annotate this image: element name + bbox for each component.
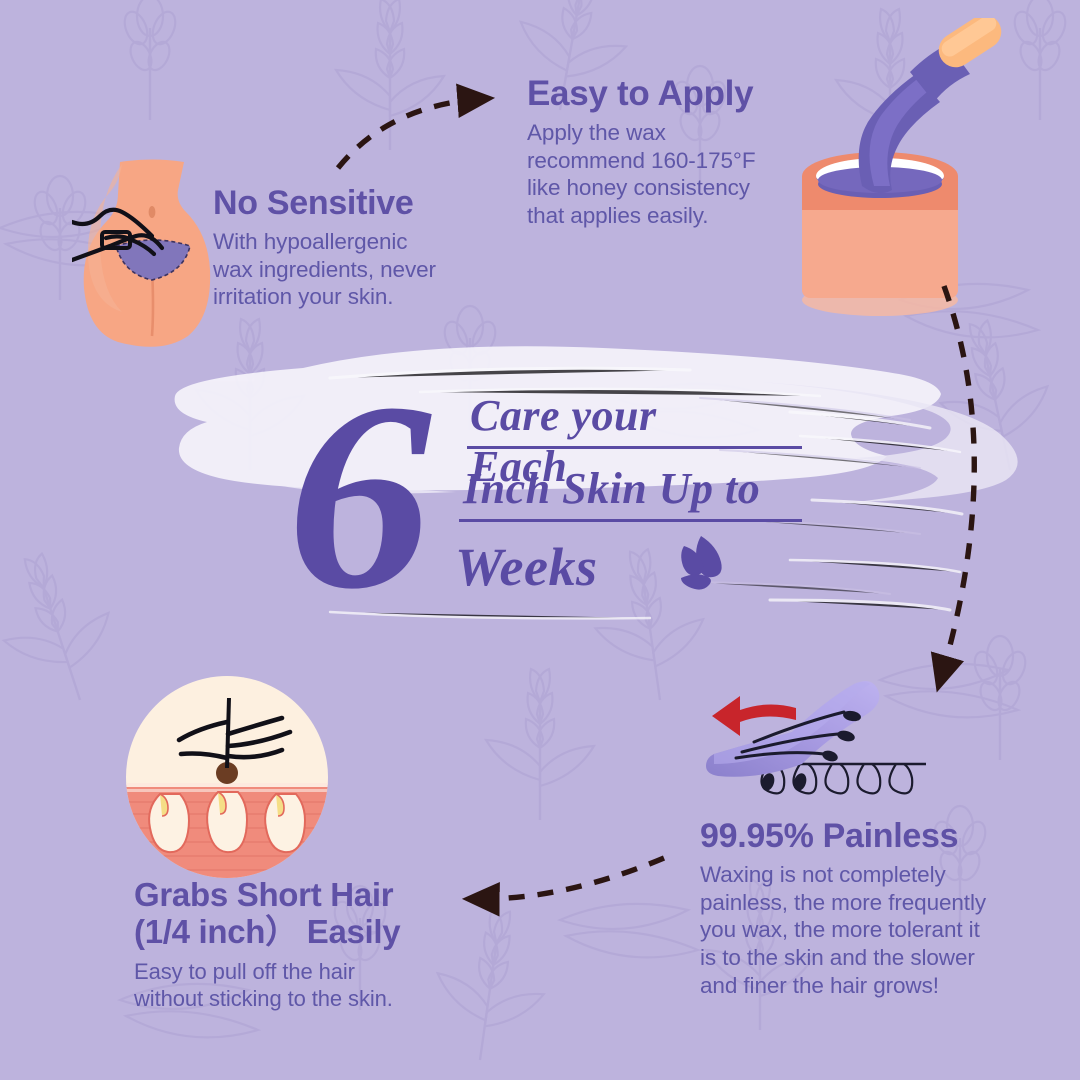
headline-underline-1 <box>467 446 802 449</box>
headline-line-3: Weeks <box>455 536 597 598</box>
feature-title: 99.95% Painless <box>700 818 1020 854</box>
torso-bikini-wax-illustration <box>72 158 232 348</box>
feature-title: Easy to Apply <box>527 75 802 112</box>
feature-body: Waxing is not completely painless, the m… <box>700 861 1020 999</box>
feature-body: With hypoallergenic wax ingredients, nev… <box>213 228 493 311</box>
headline-group: 6 Care your Each Inch Skin Up to Weeks <box>295 368 765 618</box>
feature-no-sensitive: No Sensitive With hypoallergenic wax ing… <box>213 185 493 311</box>
infographic-canvas: 6 Care your Each Inch Skin Up to Weeks N… <box>0 0 1080 1080</box>
wax-pot-with-stick-illustration <box>770 18 1030 338</box>
feature-grabs-short-hair: Grabs Short Hair (1/4 inch） Easily Easy … <box>134 877 464 1012</box>
feature-title: Grabs Short Hair (1/4 inch） Easily <box>134 877 464 951</box>
feature-body: Easy to pull off the hair without sticki… <box>134 958 464 1012</box>
feature-easy-to-apply: Easy to Apply Apply the wax recommend 16… <box>527 75 802 230</box>
skin-cross-section-illustration <box>116 672 338 882</box>
feature-body: Apply the wax recommend 160-175°F like h… <box>527 119 802 230</box>
wax-strip-pull-illustration <box>696 676 961 811</box>
splash-ornament-icon <box>671 534 731 592</box>
feature-title: No Sensitive <box>213 185 493 221</box>
feature-painless: 99.95% Painless Waxing is not completely… <box>700 818 1020 999</box>
headline-number: 6 <box>287 362 421 630</box>
headline-line-2: Inch Skin Up to <box>463 463 760 514</box>
headline-underline-2 <box>459 519 802 522</box>
